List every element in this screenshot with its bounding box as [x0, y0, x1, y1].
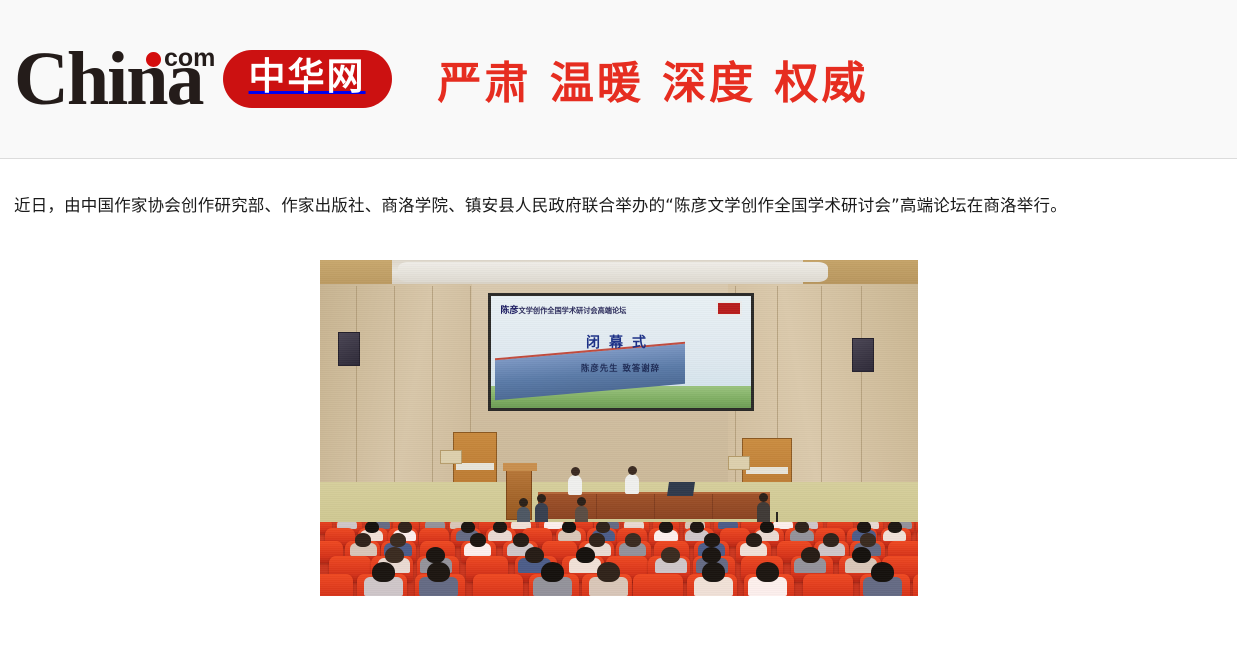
photo-attendee-head: [427, 562, 450, 582]
photo-attendee-head: [525, 547, 544, 563]
photo-attendee-head: [702, 562, 725, 582]
photo-attendee-head: [659, 522, 673, 533]
photo-seat: [913, 574, 918, 596]
header-inner: China com 中华网 严肃 温暖 深度 权威: [14, 0, 869, 158]
photo-wall-seam: [432, 286, 433, 484]
screen-slide-brand: 陈彦: [501, 306, 519, 316]
photo-audience: [320, 522, 918, 596]
photo-attendee-head: [746, 533, 762, 547]
photo-attendee-head: [493, 522, 507, 533]
photo-ceiling-duct: [398, 262, 828, 282]
photo-attendee-head: [365, 522, 379, 533]
photo-attendee-head: [795, 522, 809, 533]
photo-attendee-head: [390, 533, 406, 547]
photo-attendee-head: [756, 562, 779, 582]
photo-seat: [633, 574, 683, 596]
photo-attendee-head: [461, 522, 475, 533]
logo-wordmark-wrap: China com: [14, 41, 209, 117]
photo-wall-seam: [394, 286, 395, 484]
photo-attendee-head: [385, 547, 404, 563]
photo-seat: [473, 574, 523, 596]
photo-attendee-head: [690, 522, 704, 533]
photo-attendee-head: [888, 522, 902, 533]
photo-ceiling-left-beam: [320, 260, 392, 286]
photo-attendee-head: [513, 533, 529, 547]
photo-attendee-head: [823, 533, 839, 547]
photo-wall-seam: [356, 286, 357, 484]
site-slogan: 严肃 温暖 深度 权威: [438, 47, 869, 111]
photo-attendee-head: [562, 522, 576, 533]
photo-attendee-head: [852, 547, 871, 563]
screen-slide-logo-icon: [716, 301, 742, 316]
photo-attendee-head: [541, 562, 564, 582]
site-header: China com 中华网 严肃 温暖 深度 权威: [0, 0, 1237, 159]
photo-projection-screen: 陈彦文学创作全国学术研讨会高端论坛 闭幕式 陈彦先生 致答谢辞: [488, 293, 754, 411]
photo-attendee-head: [596, 522, 610, 533]
photo-wall-sign: [440, 450, 462, 464]
screen-slide-subtitle: 陈彦先生 致答谢辞: [491, 362, 751, 374]
photo-seat: [320, 574, 353, 596]
photo-wall-seam: [861, 286, 862, 484]
photo-panelist: [568, 475, 582, 495]
photo-attendee-head: [760, 522, 774, 533]
screen-slide-header-text: 文学创作全国学术研讨会高端论坛: [519, 306, 627, 315]
photo-head-table: [538, 492, 770, 519]
article-lead-paragraph: 近日，由中国作家协会创作研究部、作家出版社、商洛学院、镇安县人民政府联合举办的“…: [0, 159, 1237, 220]
photo-attendee-head: [372, 562, 395, 582]
logo-tld: com: [164, 46, 215, 71]
article-figure: 陈彦文学创作全国学术研讨会高端论坛 闭幕式 陈彦先生 致答谢辞: [0, 260, 1237, 596]
photo-attendee-head: [355, 533, 371, 547]
photo-attendee-head: [702, 547, 721, 563]
photo-attendee-head: [871, 562, 894, 582]
photo-attendee-head: [398, 522, 412, 533]
logo-dot-icon: [146, 52, 161, 67]
photo-attendee-head: [860, 533, 876, 547]
photo-attendee-head: [625, 533, 641, 547]
article-body: 近日，由中国作家协会创作研究部、作家出版社、商洛学院、镇安县人民政府联合举办的“…: [0, 159, 1237, 596]
photo-wall-sign: [728, 456, 750, 470]
screen-slide-header: 陈彦文学创作全国学术研讨会高端论坛: [501, 303, 741, 316]
logo-chinese-badge: 中华网: [223, 50, 392, 109]
photo-attendee-head: [597, 562, 620, 582]
photo-attendee-head: [470, 533, 486, 547]
photo-attendee-head: [704, 533, 720, 547]
photo-attendee-head: [426, 547, 445, 563]
photo-laptop: [667, 482, 695, 496]
screen-slide-title: 闭幕式: [491, 332, 751, 352]
photo-attendee-head: [801, 547, 820, 563]
photo-attendee-head: [857, 522, 871, 533]
photo-seat: [803, 574, 853, 596]
site-logo[interactable]: China com 中华网: [14, 29, 392, 129]
conference-photo: 陈彦文学创作全国学术研讨会高端论坛 闭幕式 陈彦先生 致答谢辞: [320, 260, 918, 596]
photo-attendee-head: [589, 533, 605, 547]
photo-attendee-head: [661, 547, 680, 563]
photo-wall-speaker-left: [338, 332, 360, 366]
page-root: China com 中华网 严肃 温暖 深度 权威 近日，由中国作家协会创作研究…: [0, 0, 1237, 646]
photo-panelist: [625, 474, 639, 494]
photo-wall-seam: [821, 286, 822, 484]
photo-attendee-head: [576, 547, 595, 563]
photo-wall-speaker-right: [852, 338, 874, 372]
